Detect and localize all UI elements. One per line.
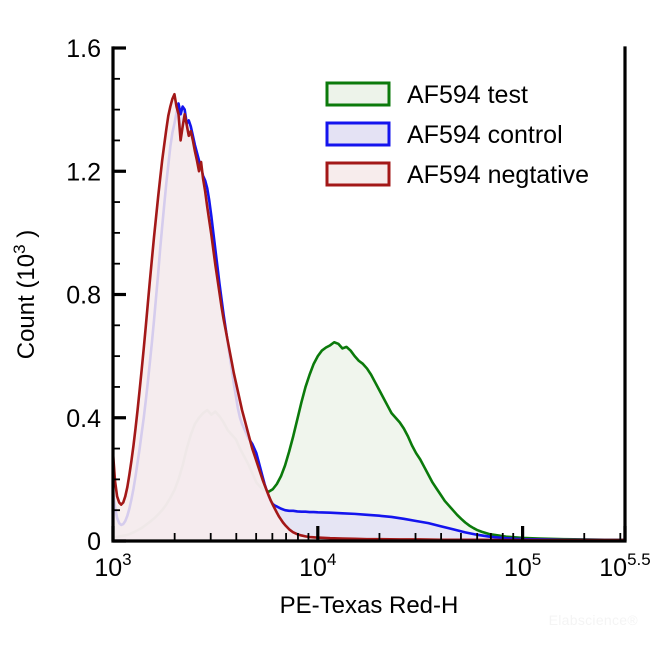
legend-label-1: AF594 control	[407, 121, 563, 149]
y-axis-title: Count (103 )	[10, 230, 40, 360]
legend-label-2: AF594 negtative	[407, 161, 589, 189]
y-tick-label-2: 0.8	[66, 282, 101, 310]
x-tick-label-1: 104	[299, 550, 336, 582]
y-tick-label-3: 1.2	[66, 158, 101, 186]
y-tick-label-0: 0	[87, 528, 101, 556]
legend-label-0: AF594 test	[407, 81, 528, 109]
histogram-plot: 00.40.81.21.6103104105105.5PE-Texas Red-…	[0, 0, 652, 650]
legend-swatch-0	[327, 83, 389, 105]
y-tick-label-1: 0.4	[66, 405, 101, 433]
y-tick-label-4: 1.6	[66, 35, 101, 63]
x-axis-title: PE-Texas Red-H	[280, 592, 459, 619]
flow-cytometry-histogram-figure: 00.40.81.21.6103104105105.5PE-Texas Red-…	[0, 0, 652, 650]
x-tick-label-2: 105	[504, 550, 541, 582]
watermark: Elabscience®	[549, 612, 638, 628]
legend-swatch-2	[327, 163, 389, 185]
x-tick-label-3: 105.5	[599, 550, 650, 582]
x-tick-label-0: 103	[94, 550, 131, 582]
legend-swatch-1	[327, 123, 389, 145]
